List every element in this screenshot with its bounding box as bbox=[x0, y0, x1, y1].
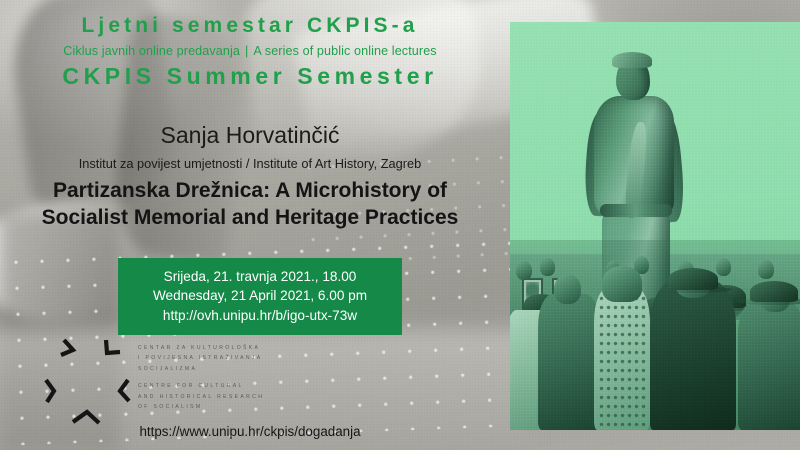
poster-headline: Ljetni semestar CKPIS-a Ciklus javnih on… bbox=[0, 14, 500, 90]
event-info-box: Srijeda, 21. travnja 2021., 18.00 Wednes… bbox=[118, 258, 402, 335]
logo-stroke-right bbox=[120, 380, 129, 401]
headline-croatian: Ljetni semestar CKPIS-a bbox=[0, 14, 500, 38]
talk-title-line2: Socialist Memorial and Heritage Practice… bbox=[0, 205, 500, 232]
subtitle-english: A series of public online lectures bbox=[253, 44, 436, 58]
headline-english: CKPIS Summer Semester bbox=[0, 63, 500, 90]
photo-grain bbox=[510, 22, 800, 430]
logo-stroke-left bbox=[46, 380, 54, 402]
subtitle-croatian: Ciklus javnih online predavanja bbox=[63, 44, 240, 58]
event-meeting-link[interactable]: http://ovh.unipu.hr/b/igo-utx-73w bbox=[124, 306, 396, 325]
event-datetime-english: Wednesday, 21 April 2021, 6.00 pm bbox=[124, 286, 396, 305]
logo-stroke-top-left bbox=[61, 340, 73, 355]
ckpis-logo-wordmark: CENTAR ZA KULTUROLOŠKA I POVIJESNA ISTRA… bbox=[138, 343, 264, 413]
logo-name-hr-3: SOCIJALIZMA bbox=[138, 364, 264, 374]
speaker-name: Sanja Horvatinčić bbox=[0, 122, 500, 149]
logo-name-en-3: OF SOCIALISM bbox=[138, 402, 264, 412]
logo-stroke-top-right bbox=[106, 340, 120, 353]
logo-name-en-2: AND HISTORICAL RESEARCH bbox=[138, 392, 264, 402]
speaker-affiliation: Institut za povijest umjetnosti / Instit… bbox=[0, 156, 500, 171]
ckpis-logo-mark bbox=[44, 336, 134, 432]
speaker-block: Sanja Horvatinčić Institut za povijest u… bbox=[0, 122, 500, 171]
event-datetime-croatian: Srijeda, 21. travnja 2021., 18.00 bbox=[124, 267, 396, 286]
talk-title: Partizanska Drežnica: A Microhistory of … bbox=[0, 178, 500, 232]
headline-subtitle: Ciklus javnih online predavanja|A series… bbox=[0, 44, 500, 58]
logo-stroke-bottom bbox=[73, 412, 99, 423]
talk-title-line1: Partizanska Drežnica: A Microhistory of bbox=[0, 178, 500, 205]
footer-url[interactable]: https://www.unipu.hr/ckpis/dogadanja bbox=[0, 424, 500, 439]
monument-photograph bbox=[510, 22, 800, 430]
subtitle-separator: | bbox=[240, 44, 253, 58]
logo-name-hr-1: CENTAR ZA KULTUROLOŠKA bbox=[138, 343, 264, 353]
logo-text-gap bbox=[138, 374, 264, 381]
logo-name-en-1: CENTRE FOR CULTURAL bbox=[138, 381, 264, 391]
event-poster: Ljetni semestar CKPIS-a Ciklus javnih on… bbox=[0, 0, 800, 450]
logo-name-hr-2: I POVIJESNA ISTRAŽIVANJA bbox=[138, 353, 264, 363]
